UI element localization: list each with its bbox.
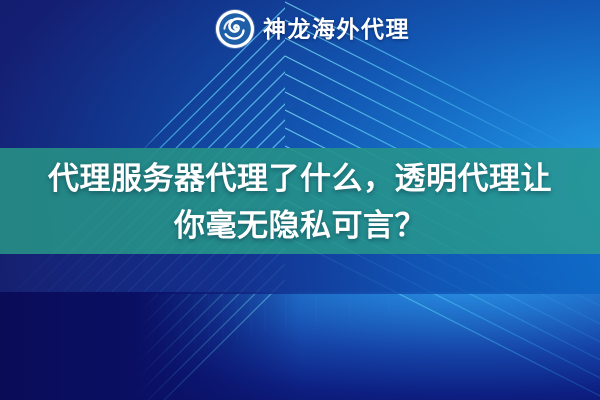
swirl-wave-logo-icon — [216, 10, 254, 48]
brand-name: 神龙海外代理 — [263, 18, 410, 41]
headline-line-2: 你毫无隐私可言？ — [16, 202, 584, 249]
promo-banner: 神龙海外代理 代理服务器代理了什么，透明代理让 你毫无隐私可言？ — [0, 0, 600, 400]
page-title: 代理服务器代理了什么，透明代理让 你毫无隐私可言？ — [0, 155, 600, 249]
lower-left-shadow — [0, 292, 300, 400]
headline-line-1: 代理服务器代理了什么，透明代理让 — [16, 155, 584, 202]
brand-logo: 神龙海外代理 — [216, 10, 410, 48]
